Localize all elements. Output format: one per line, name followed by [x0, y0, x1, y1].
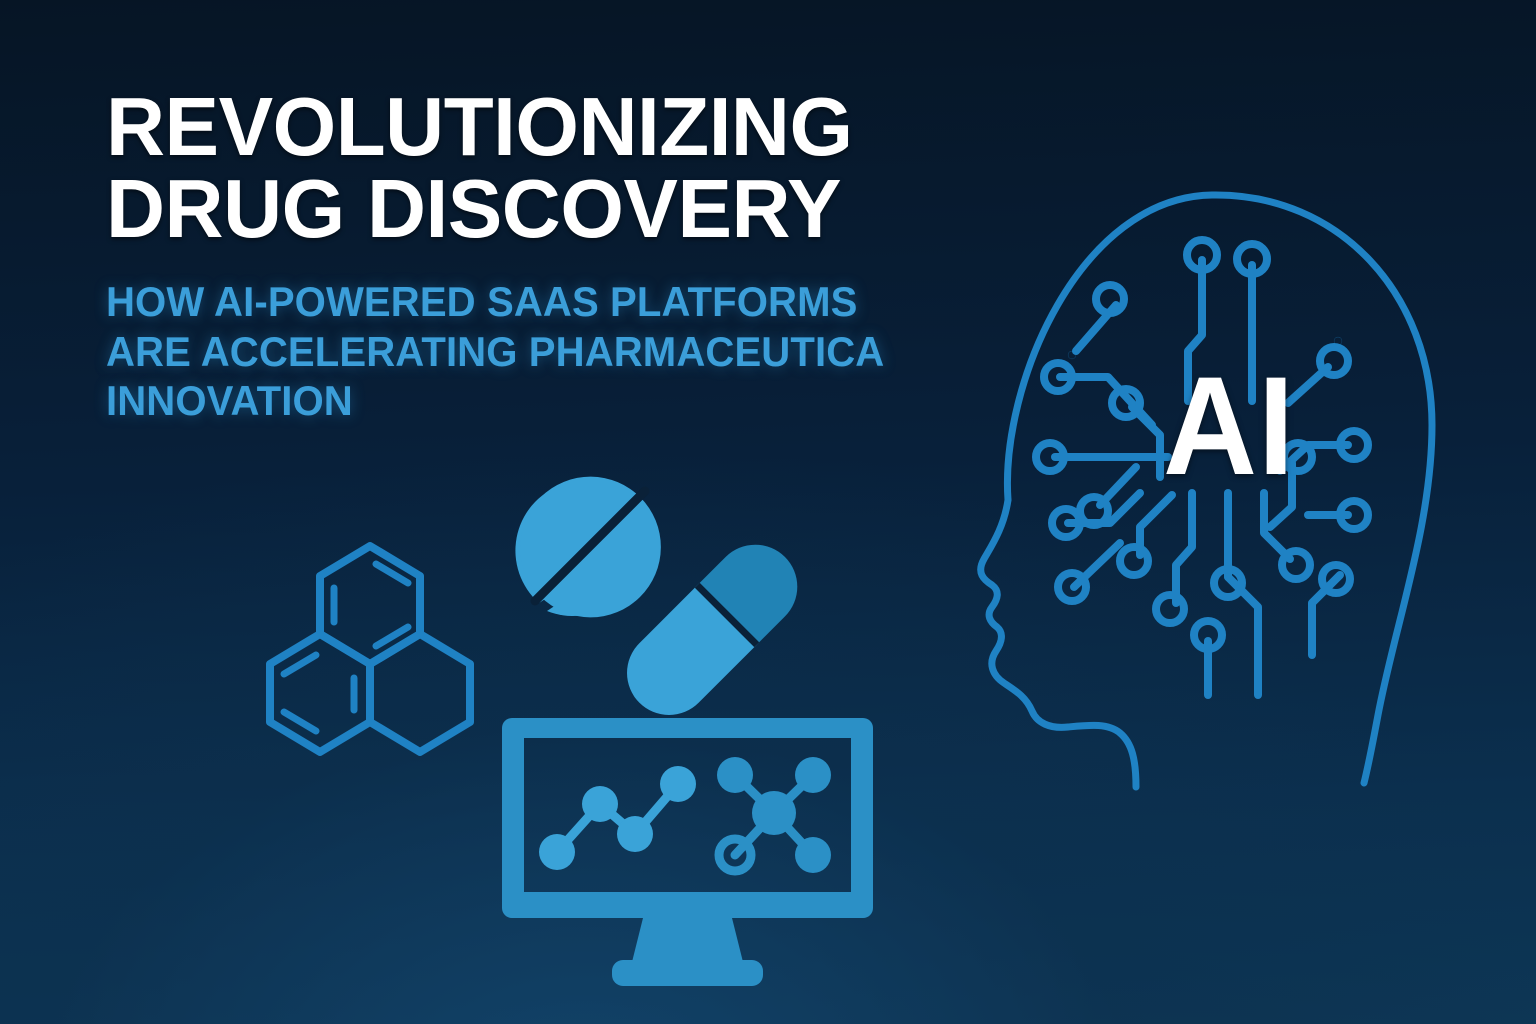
- line-chart-graphic: [539, 766, 696, 870]
- headline-line-2: Drug Discovery: [106, 168, 993, 250]
- ai-brain-label: AI: [1163, 356, 1295, 496]
- molecule-hexagons-icon: [258, 538, 498, 758]
- subhead-line-1: How AI-Powered SaaS Platforms: [106, 277, 966, 327]
- headline-line-1: Revolutionizing: [106, 86, 993, 168]
- pill-and-capsule-icon: [495, 455, 855, 735]
- page-subtitle: How AI-Powered SaaS Platforms Are Accele…: [106, 277, 966, 426]
- poster-canvas: AI Revolutionizing Drug Discovery How AI…: [0, 0, 1536, 1024]
- subhead-line-3: Innovation: [106, 376, 966, 426]
- network-graphic: [717, 757, 831, 873]
- text-block: Revolutionizing Drug Discovery How AI-Po…: [106, 86, 1006, 426]
- tablet-shape: [515, 477, 661, 618]
- subhead-line-2: Are Accelerating Pharmaceutica: [106, 327, 966, 377]
- page-title: Revolutionizing Drug Discovery: [106, 86, 993, 250]
- monitor-analytics-icon: [500, 712, 875, 997]
